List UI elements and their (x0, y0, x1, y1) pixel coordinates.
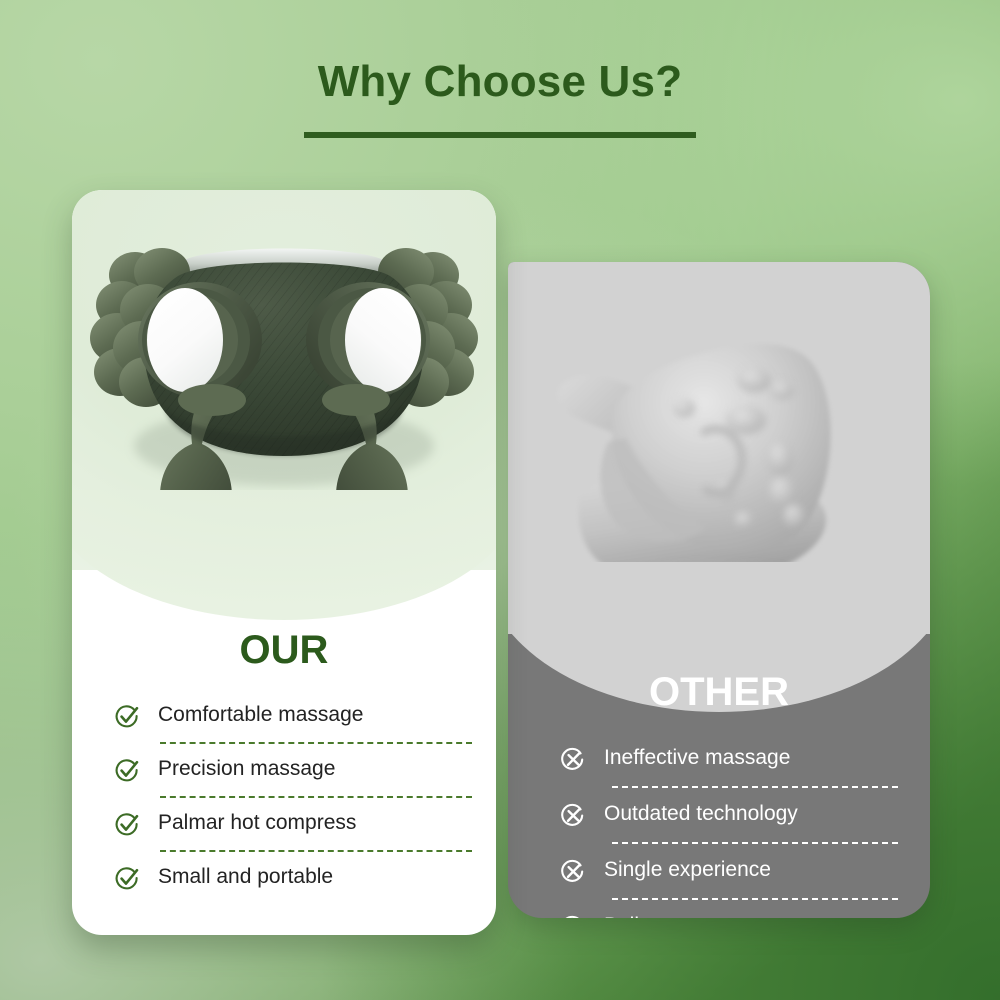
our-list-divider (160, 742, 472, 744)
other-list-divider (612, 898, 898, 900)
our-feature-label: Comfortable massage (158, 702, 363, 727)
other-feature-label: Bulky (604, 913, 655, 918)
comparison-cards: OTHER Ineffective massage (0, 0, 1000, 1000)
other-feature-label: Ineffective massage (604, 745, 790, 770)
cross-circle-icon (560, 747, 586, 773)
other-list-divider (612, 842, 898, 844)
list-item: Ineffective massage (560, 742, 908, 776)
other-card[interactable]: OTHER Ineffective massage (508, 262, 930, 918)
our-feature-label: Small and portable (158, 864, 333, 889)
check-circle-icon (114, 704, 140, 730)
our-list-divider (160, 850, 472, 852)
other-feature-label: Single experience (604, 857, 771, 882)
our-product-photo-area (72, 190, 496, 570)
other-list-divider (612, 786, 898, 788)
other-card-body: OTHER Ineffective massage (508, 630, 930, 918)
list-item: Single experience (560, 854, 908, 888)
our-feature-label: Precision massage (158, 756, 335, 781)
our-list-divider (160, 796, 472, 798)
check-circle-icon (114, 812, 140, 838)
our-card-heading: OUR (72, 630, 496, 670)
other-feature-label: Outdated technology (604, 801, 798, 826)
cross-circle-icon (560, 803, 586, 829)
list-item: Comfortable massage (114, 700, 472, 732)
cross-circle-icon (560, 915, 586, 918)
check-circle-icon (114, 758, 140, 784)
check-circle-icon (114, 866, 140, 892)
list-item: Bulky (560, 910, 908, 918)
our-card[interactable]: OUR Comfortable massage (72, 190, 496, 935)
list-item: Precision massage (114, 754, 472, 786)
list-item: Outdated technology (560, 798, 908, 832)
list-item: Palmar hot compress (114, 808, 472, 840)
our-feature-label: Palmar hot compress (158, 810, 356, 835)
our-feature-list: Comfortable massage Precision massage (72, 700, 496, 894)
our-card-body: OUR Comfortable massage (72, 582, 496, 894)
other-card-heading: OTHER (508, 672, 930, 712)
other-product-photo-area (508, 262, 930, 634)
cross-circle-icon (560, 859, 586, 885)
other-feature-list: Ineffective massage Outdated technology (508, 742, 930, 918)
list-item: Small and portable (114, 862, 472, 894)
